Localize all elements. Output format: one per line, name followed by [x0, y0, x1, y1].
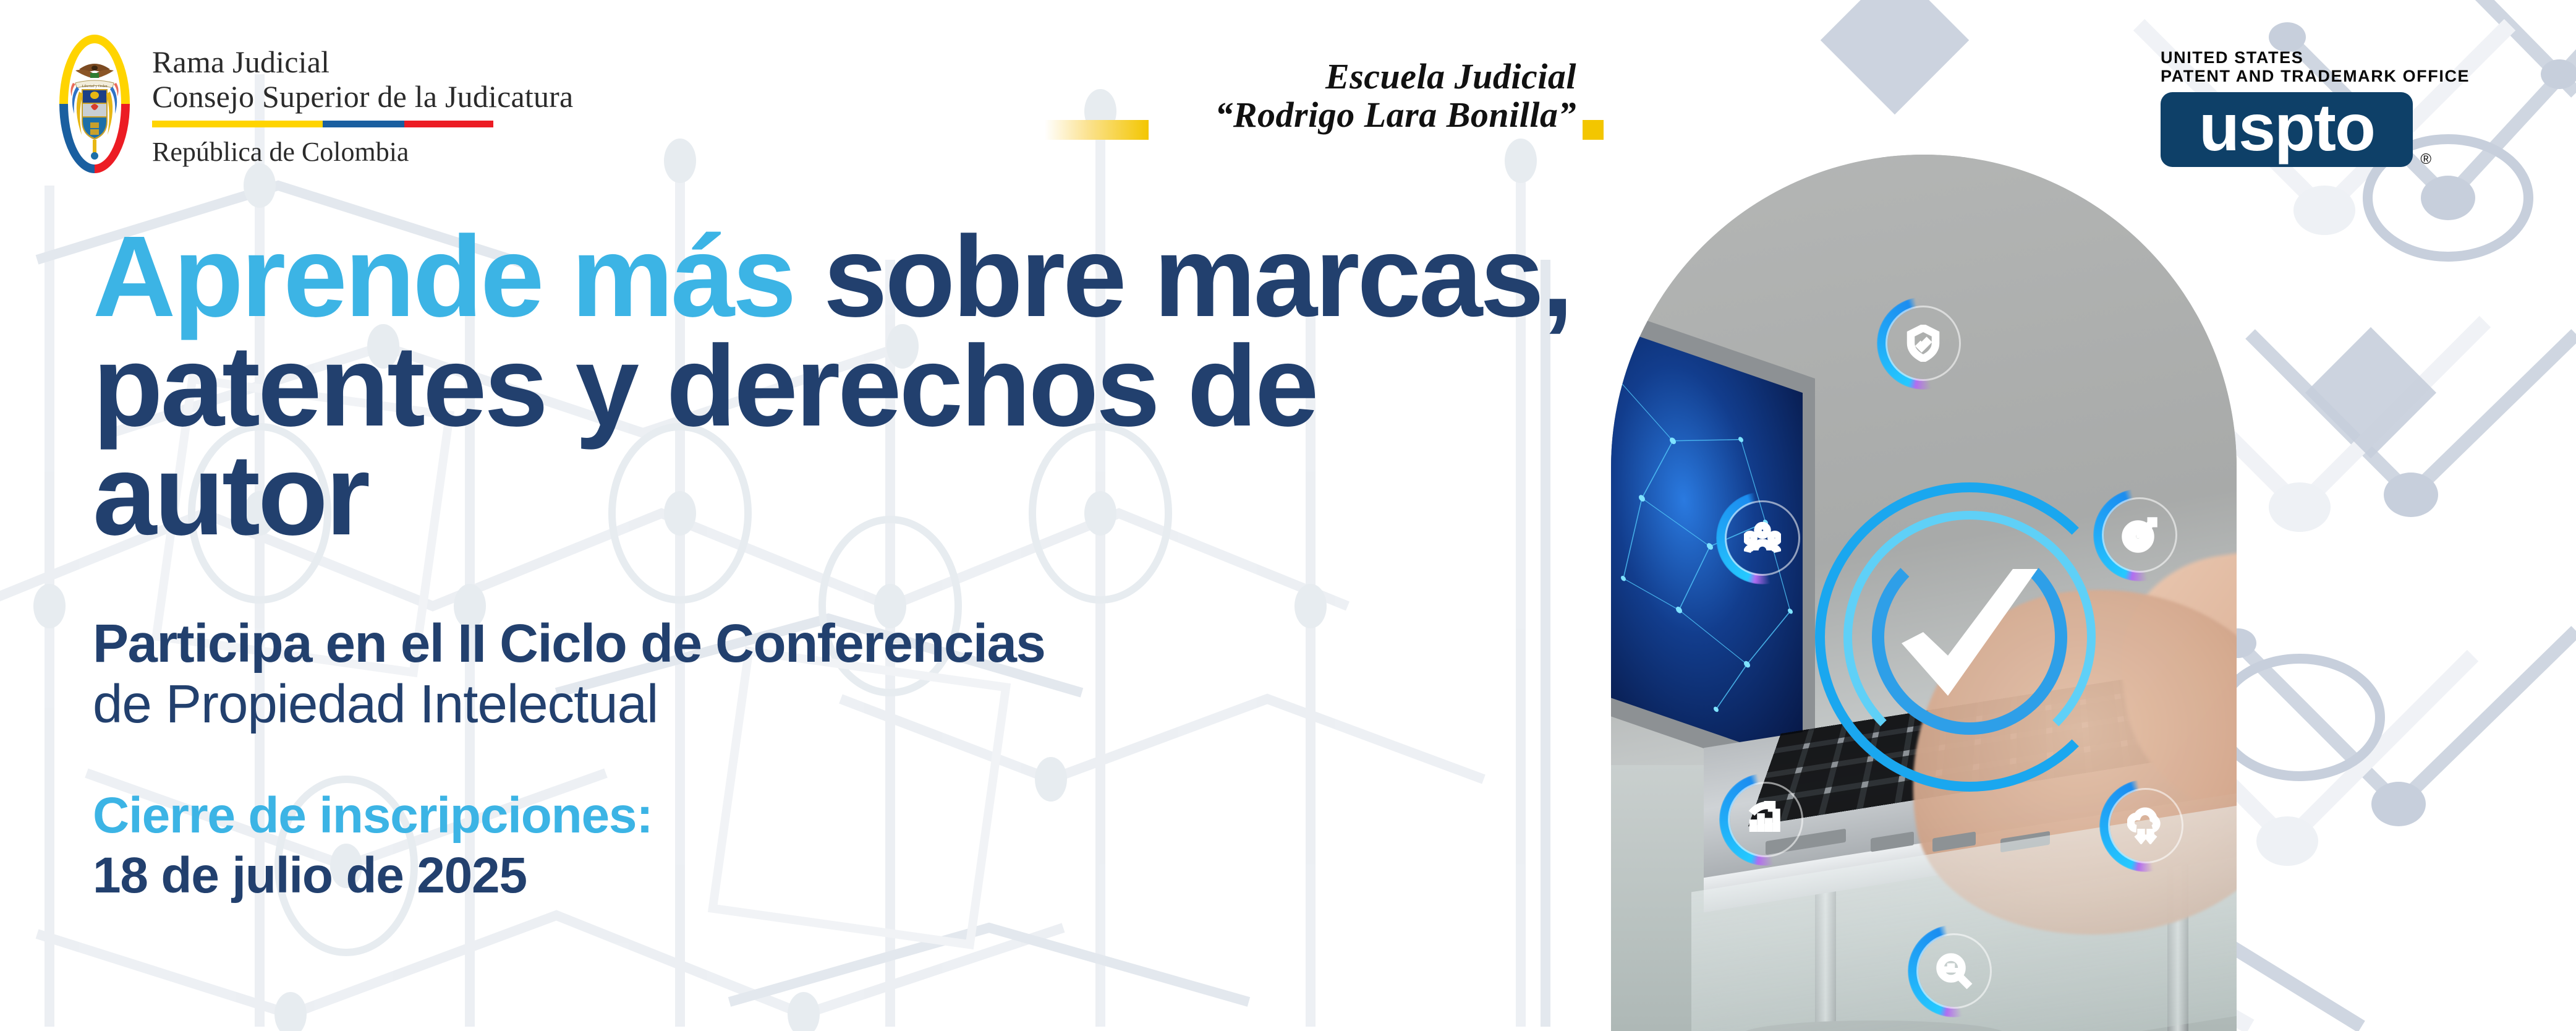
escuela-judicial-logo: Escuela Judicial “Rodrigo Lara Bonilla”	[1051, 56, 1595, 148]
bar-chart-growth-icon	[1719, 773, 1812, 866]
deadline-label: Cierre de inscripciones:	[93, 786, 1576, 846]
colombia-tricolor-bar	[152, 121, 493, 127]
check-mark-icon	[1815, 482, 2124, 792]
escuela-line-2: “Rodrigo Lara Bonilla”	[1215, 94, 1576, 135]
tricolor-yellow	[152, 121, 323, 127]
subtitle-line-1: Participa en el II Ciclo de Conferencias	[93, 614, 1576, 674]
uspto-line-1: UNITED STATES	[2161, 48, 2420, 67]
rama-subtitle: República de Colombia	[152, 136, 573, 168]
tricolor-red	[404, 121, 493, 127]
escuela-line-1: Escuela Judicial	[1325, 56, 1576, 97]
users-group-icon	[1716, 492, 1809, 584]
subtitle-block: Participa en el II Ciclo de Conferencias…	[93, 614, 1576, 734]
colombia-coat-of-arms-icon: Libertad y Orden	[54, 30, 135, 178]
uspto-line-2: PATENT AND TRADEMARK OFFICE	[2161, 67, 2420, 85]
subtitle-line-2: de Propiedad Intelectual	[93, 674, 1576, 734]
rama-judicial-logo: Libertad y Orden	[54, 30, 573, 178]
search-analytics-icon	[1908, 925, 2000, 1017]
registered-trademark-icon: ®	[2420, 151, 2431, 168]
uspto-wordmark: uspto	[2199, 94, 2374, 161]
headline-line-2: patentes y derechos de autor	[93, 322, 1316, 560]
deadline-date: 18 de julio de 2025	[93, 846, 1576, 906]
page-title: Aprende más sobre marcas, patentes y der…	[93, 223, 1576, 550]
escuela-gradient-bar-left	[1045, 120, 1149, 140]
rama-line-2: Consejo Superior de la Judicatura	[152, 79, 573, 114]
rama-judicial-wordmark: Rama Judicial Consejo Superior de la Jud…	[152, 41, 573, 168]
tricolor-blue	[323, 121, 404, 127]
uspto-logo: UNITED STATES PATENT AND TRADEMARK OFFIC…	[2161, 48, 2420, 167]
promo-banner: Libertad y Orden	[0, 0, 2576, 1031]
shield-check-icon	[1877, 297, 1970, 390]
check-glyph	[1889, 563, 2050, 717]
cloud-download-icon	[2099, 779, 2192, 872]
svg-text:Libertad y Orden: Libertad y Orden	[82, 85, 107, 88]
escuela-bar-right	[1583, 120, 1604, 140]
deadline-block: Cierre de inscripciones: 18 de julio de …	[93, 786, 1576, 906]
rama-line-1: Rama Judicial	[152, 45, 573, 79]
hud-overlay	[1611, 155, 2237, 1031]
hero-photo	[1611, 155, 2237, 1031]
banner-copy: Aprende más sobre marcas, patentes y der…	[93, 223, 1576, 905]
